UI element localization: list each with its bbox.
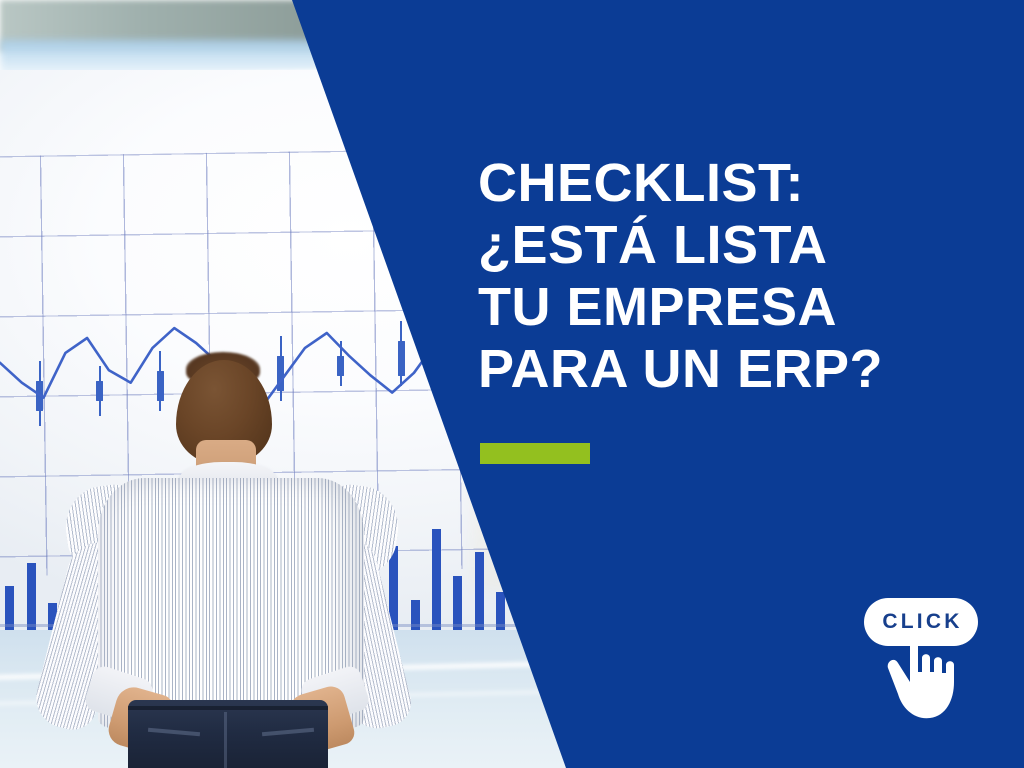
- headline-line-4: PARA UN ERP?: [478, 338, 998, 400]
- jeans-fly-seam: [224, 712, 227, 768]
- headline-line-1: CHECKLIST:: [478, 152, 998, 214]
- headline-block: CHECKLIST: ¿ESTÁ LISTA TU EMPRESA PARA U…: [478, 152, 998, 400]
- navy-jeans: [128, 700, 328, 768]
- green-accent-bar: [480, 443, 590, 464]
- pointing-hand-cursor-icon: [880, 624, 1000, 724]
- click-cta[interactable]: CLICK: [860, 594, 1000, 724]
- banner-canvas: CHECKLIST: ¿ESTÁ LISTA TU EMPRESA PARA U…: [0, 0, 1024, 768]
- headline-line-2: ¿ESTÁ LISTA: [478, 214, 998, 276]
- headline-line-3: TU EMPRESA: [478, 276, 998, 338]
- waistband: [128, 706, 328, 710]
